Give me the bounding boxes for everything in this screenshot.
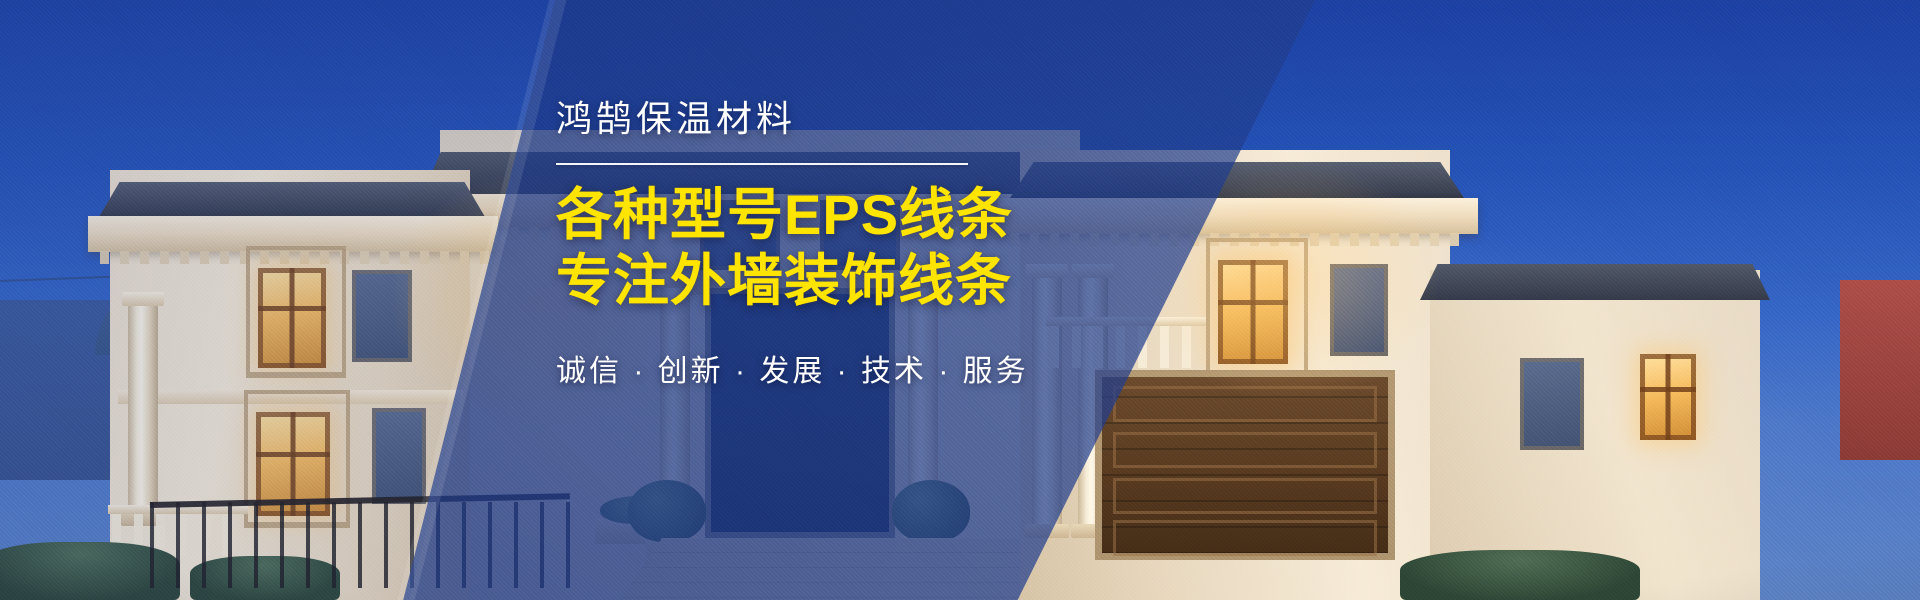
window-upper-left-2 (352, 270, 412, 362)
window-frame-upper-left-1 (246, 246, 346, 378)
right-wing-cornice (998, 198, 1478, 234)
promo-banner: 鸿鹄保温材料 各种型号EPS线条 专注外墙装饰线条 诚信 · 创新 · 发展 ·… (0, 0, 1920, 600)
window-frame-upper-right-1 (1206, 238, 1308, 376)
title-divider (556, 163, 968, 165)
window-lower-left-2 (372, 408, 426, 504)
garage-door (1095, 370, 1395, 560)
brand-subtitle: 鸿鹄保温材料 (556, 96, 1026, 141)
balustrade-rail-right (1046, 317, 1206, 326)
window-far-right-2 (1640, 354, 1696, 440)
banner-text-block: 鸿鹄保温材料 各种型号EPS线条 专注外墙装饰线条 诚信 · 创新 · 发展 ·… (556, 96, 1026, 390)
hedge-right (1400, 550, 1640, 600)
headline-line-1: 各种型号EPS线条 (556, 185, 1026, 245)
banner-tagline: 诚信 · 创新 · 发展 · 技术 · 服务 (556, 346, 1026, 390)
balustrade-right (1050, 324, 1200, 368)
window-far-right-1 (1520, 358, 1584, 450)
shrub-right (892, 480, 970, 542)
far-right-wing-roof (1420, 264, 1770, 300)
shrub-left (628, 480, 706, 542)
red-panel (1840, 280, 1920, 460)
column-right-1 (1032, 276, 1062, 526)
headline-line-2: 专注外墙装饰线条 (556, 251, 1026, 311)
column-left-1 (128, 304, 158, 514)
iron-railing (150, 502, 570, 588)
window-upper-right-2 (1330, 264, 1388, 356)
